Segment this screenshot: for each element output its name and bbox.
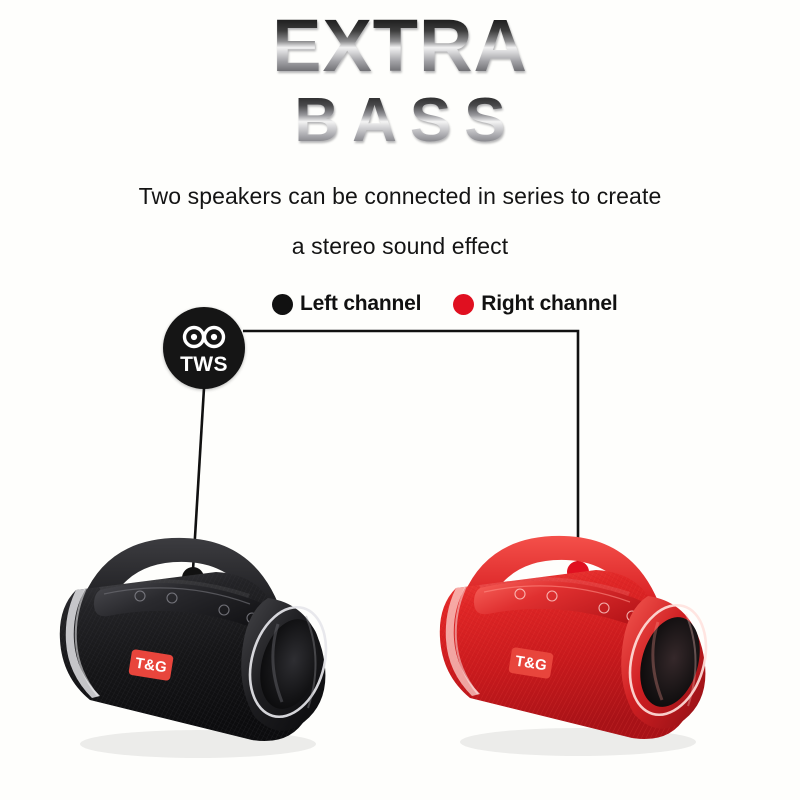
headline-block: EXTRA BASS [0, 8, 800, 156]
speaker-left-channel-black: T&G [38, 512, 358, 762]
legend-label-left: Left channel [300, 292, 421, 316]
legend-item-right-channel: Right channel [453, 292, 617, 316]
legend-item-left-channel: Left channel [272, 292, 421, 316]
product-banner: EXTRA BASS Two speakers can be connected… [0, 0, 800, 800]
right-channel-dot [453, 294, 474, 315]
legend-label-right: Right channel [481, 292, 617, 316]
dual-ring-infinity-icon [181, 325, 227, 354]
tws-badge: TWS [163, 307, 245, 389]
left-channel-dot [272, 294, 293, 315]
speaker-right-channel-red: T&G [418, 510, 738, 760]
headline-extra: EXTRA [0, 8, 800, 84]
channel-legend: Left channel Right channel [272, 292, 618, 316]
headline-bass: BASS [0, 86, 800, 156]
tws-label: TWS [180, 355, 228, 375]
subtitle-line-1: Two speakers can be connected in series … [0, 183, 800, 210]
subtitle-line-2: a stereo sound effect [0, 233, 800, 260]
